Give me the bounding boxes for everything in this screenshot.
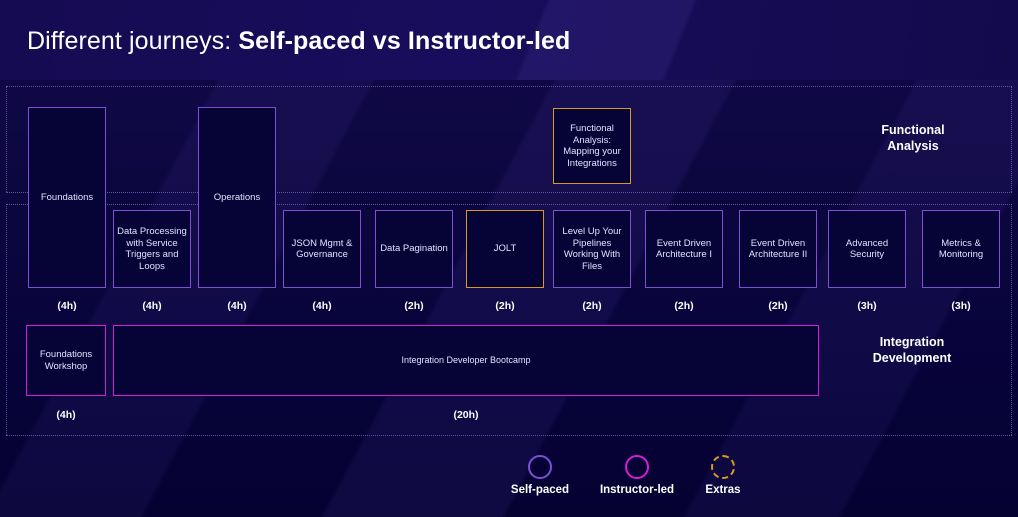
track-guide-left-upper: [6, 86, 7, 192]
duration-eda-two: (2h): [739, 300, 817, 312]
extras-circle-icon: [711, 455, 735, 479]
course-box-foundations[interactable]: Foundations: [28, 107, 106, 288]
duration-data-processing: (4h): [113, 300, 191, 312]
self-paced-circle-icon: [528, 455, 552, 479]
course-box-advanced-security[interactable]: Advanced Security: [828, 210, 906, 288]
duration-eda-one: (2h): [645, 300, 723, 312]
duration-advanced-security: (3h): [828, 300, 906, 312]
duration-jolt: (2h): [466, 300, 544, 312]
duration-bootcamp: (20h): [113, 409, 819, 421]
slide-header: Different journeys: Self-paced vs Instru…: [0, 0, 1018, 80]
course-box-metrics-monitoring[interactable]: Metrics & Monitoring: [922, 210, 1000, 288]
course-box-jolt[interactable]: JOLT: [466, 210, 544, 288]
course-box-event-driven-architecture-ii[interactable]: Event Driven Architecture II: [739, 210, 817, 288]
duration-level-up: (2h): [553, 300, 631, 312]
course-box-data-processing[interactable]: Data Processing with Service Triggers an…: [113, 210, 191, 288]
duration-foundations: (4h): [28, 300, 106, 312]
course-box-json-mgmt[interactable]: JSON Mgmt & Governance: [283, 210, 361, 288]
duration-metrics-monitoring: (3h): [922, 300, 1000, 312]
slide-root: Different journeys: Self-paced vs Instru…: [0, 0, 1018, 517]
duration-foundations-workshop: (4h): [26, 409, 106, 421]
duration-json-mgmt: (4h): [283, 300, 361, 312]
track-label-integration-development: Integration Development: [822, 334, 1002, 366]
track-guide-right-lower: [1011, 204, 1012, 435]
course-box-operations[interactable]: Operations: [198, 107, 276, 288]
track-guide-fa-bottom: [6, 192, 1012, 193]
track-guide-right-upper: [1011, 86, 1012, 192]
instructor-led-circle-icon: [625, 455, 649, 479]
track-guide-left-lower: [6, 204, 7, 435]
track-guide-bottom: [6, 435, 1012, 436]
track-guide-top: [6, 86, 1012, 87]
course-box-data-pagination[interactable]: Data Pagination: [375, 210, 453, 288]
legend-item-extras: Extras: [648, 455, 798, 496]
course-box-event-driven-architecture-i[interactable]: Event Driven Architecture I: [645, 210, 723, 288]
page-title: Different journeys: Self-paced vs Instru…: [27, 27, 570, 56]
course-box-integration-developer-bootcamp[interactable]: Integration Developer Bootcamp: [113, 325, 819, 396]
legend: Self-paced Instructor-led Extras: [0, 450, 1018, 512]
legend-label-extras: Extras: [648, 484, 798, 496]
duration-operations: (4h): [198, 300, 276, 312]
track-label-functional-analysis: Functional Analysis: [828, 122, 998, 154]
course-box-level-up-pipelines[interactable]: Level Up Your Pipelines Working With Fil…: [553, 210, 631, 288]
duration-data-pagination: (2h): [375, 300, 453, 312]
course-box-foundations-workshop[interactable]: Foundations Workshop: [26, 325, 106, 396]
track-guide-id-top: [6, 204, 1012, 205]
course-box-functional-analysis-mapping[interactable]: Functional Analysis: Mapping your Integr…: [553, 108, 631, 184]
page-title-light: Different journeys:: [27, 27, 238, 55]
page-title-bold: Self-paced vs Instructor-led: [238, 27, 570, 55]
